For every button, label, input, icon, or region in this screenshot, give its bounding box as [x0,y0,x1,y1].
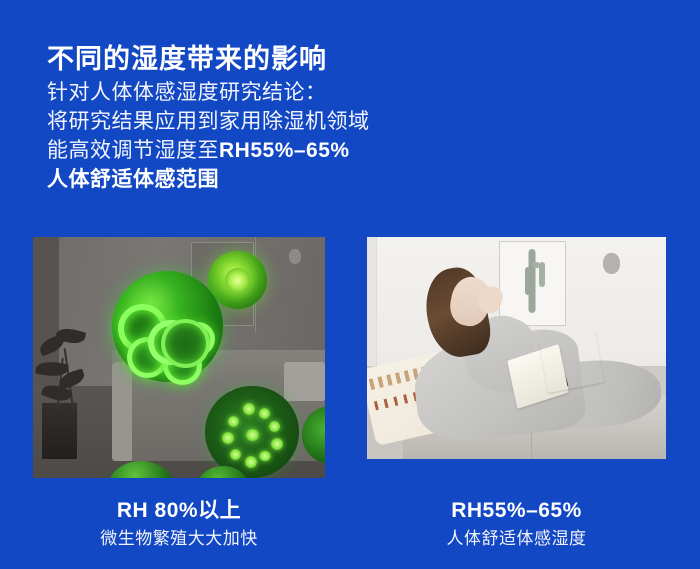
dark-room-scene [33,237,325,478]
microbe-dot [243,403,255,415]
photo-woman-reading-comfort [367,237,666,459]
caption-left: RH 80%以上 微生物繁殖大大加快 [33,498,325,551]
caption-right-subtitle: 人体舒适体感湿度 [367,526,666,551]
microbe-dot [259,451,270,462]
body-line-3-highlight: RH55%–65% [219,139,350,162]
light-room-wall-seam [367,237,377,379]
body-line-2: 将研究结果应用到家用除湿机领域 [47,107,370,136]
microbe-dot [222,432,234,444]
dark-room-cushion [284,362,325,401]
cactus-arm-right [539,262,545,287]
book-page-right [539,330,605,393]
microbe-dot [271,438,283,450]
microbe-sphere-lower [205,386,298,478]
microbe-dot [230,449,241,460]
body-line-1: 针对人体体感湿度研究结论： [47,78,370,107]
body-copy-block: 针对人体体感湿度研究结论： 将研究结果应用到家用除湿机领域 能高效调节湿度至RH… [47,78,370,194]
body-line-4: 人体舒适体感范围 [47,165,370,194]
dark-room-plant-pot [42,403,77,458]
dark-room-sofa-arm [112,362,132,461]
light-room-wall-knob [603,253,620,274]
photo-microbes-dark-room [33,237,325,478]
page-title: 不同的湿度带来的影响 [47,37,327,76]
caption-right: RH55%–65% 人体舒适体感湿度 [367,498,666,551]
dark-room-wall-knob [289,249,301,264]
microbe-dot [259,408,270,419]
humidity-infographic-poster: 不同的湿度带来的影响 针对人体体感湿度研究结论： 将研究结果应用到家用除湿机领域… [0,0,700,569]
caption-left-title: RH 80%以上 [33,498,325,524]
microbe-dot [228,416,239,427]
microbe-cell-edge [161,319,210,368]
light-room-cactus-art [499,241,567,325]
microbe-sphere-bottom-edge [109,461,173,478]
caption-right-title: RH55%–65% [367,498,666,524]
microbe-dot [245,456,257,468]
caption-left-subtitle: 微生物繁殖大大加快 [33,526,325,551]
microbe-dot-core [246,429,259,442]
body-line-3-prefix: 能高效调节湿度至 [47,139,219,162]
cactus-arm-left-joint [525,267,536,273]
light-room-scene [367,237,666,459]
microbe-dot [269,421,280,432]
body-line-3: 能高效调节湿度至RH55%–65% [47,136,370,165]
